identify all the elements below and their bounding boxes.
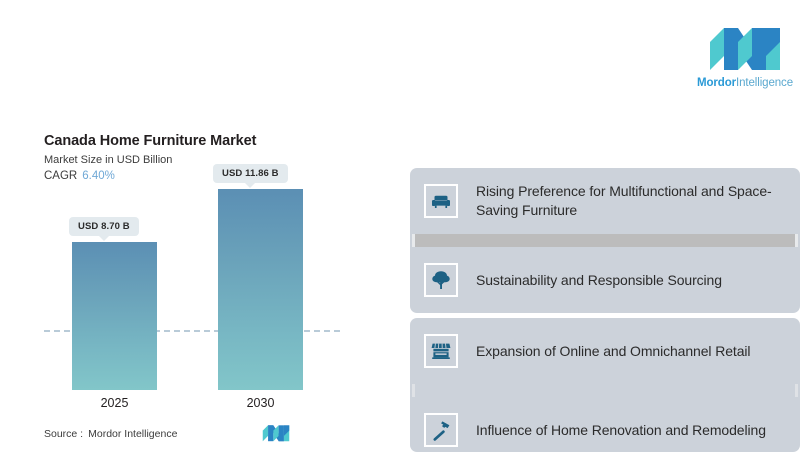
mordor-m-logo-icon: [708, 22, 782, 72]
sofa-icon: [424, 184, 458, 218]
driver-text: Influence of Home Renovation and Remodel…: [476, 421, 776, 440]
bar-2025[interactable]: [72, 242, 157, 390]
driver-item[interactable]: Expansion of Online and Omnichannel Reta…: [410, 318, 800, 384]
driver-item[interactable]: Influence of Home Renovation and Remodel…: [410, 397, 800, 452]
driver-item[interactable]: Rising Preference for Multifunctional an…: [410, 168, 800, 234]
driver-text: Sustainability and Responsible Sourcing: [476, 271, 732, 290]
chart-card: Canada Home Furniture Market Market Size…: [30, 125, 360, 452]
bar-2030[interactable]: [218, 189, 303, 390]
source-name: Mordor Intelligence: [88, 428, 177, 440]
panel-scroll-divider[interactable]: [412, 384, 798, 397]
cagr-value: 6.40%: [82, 170, 115, 182]
panel-scroll-divider[interactable]: [412, 234, 798, 247]
driver-item[interactable]: Sustainability and Responsible Sourcing: [410, 247, 800, 313]
storefront-icon: [424, 334, 458, 368]
x-axis-label-2025: 2025: [72, 396, 157, 410]
bar-value-label-2030: USD 11.86 B: [213, 164, 288, 183]
drivers-panel-bottom: Expansion of Online and Omnichannel Reta…: [410, 318, 800, 452]
bar-group-2030: USD 11.86 B: [218, 145, 303, 390]
bar-group-2025: USD 8.70 B: [72, 185, 157, 390]
drivers-panel-top: Rising Preference for Multifunctional an…: [410, 168, 800, 313]
cagr-row: CAGR6.40%: [44, 170, 115, 182]
source-label: Source :: [44, 428, 83, 440]
driver-text: Rising Preference for Multifunctional an…: [476, 182, 800, 220]
tree-icon: [424, 263, 458, 297]
bar-value-label-2025: USD 8.70 B: [69, 217, 139, 236]
chart-subtitle: Market Size in USD Billion: [44, 154, 172, 166]
chart-plot-area: USD 8.70 B 2025 USD 11.86 B 2030: [30, 187, 360, 452]
hammer-icon: [424, 413, 458, 447]
mordor-m-logo-icon: [262, 423, 290, 442]
cagr-label: CAGR: [44, 170, 77, 182]
brand-wordmark: MordorIntelligence: [697, 77, 793, 89]
brand-name-intelligence: Intelligence: [736, 77, 793, 89]
x-axis-label-2030: 2030: [218, 396, 303, 410]
driver-text: Expansion of Online and Omnichannel Reta…: [476, 342, 760, 361]
brand-name-mordor: Mordor: [697, 77, 736, 89]
chart-source: Source :Mordor Intelligence: [44, 428, 177, 440]
brand-logo-block: MordorIntelligence: [690, 0, 800, 110]
